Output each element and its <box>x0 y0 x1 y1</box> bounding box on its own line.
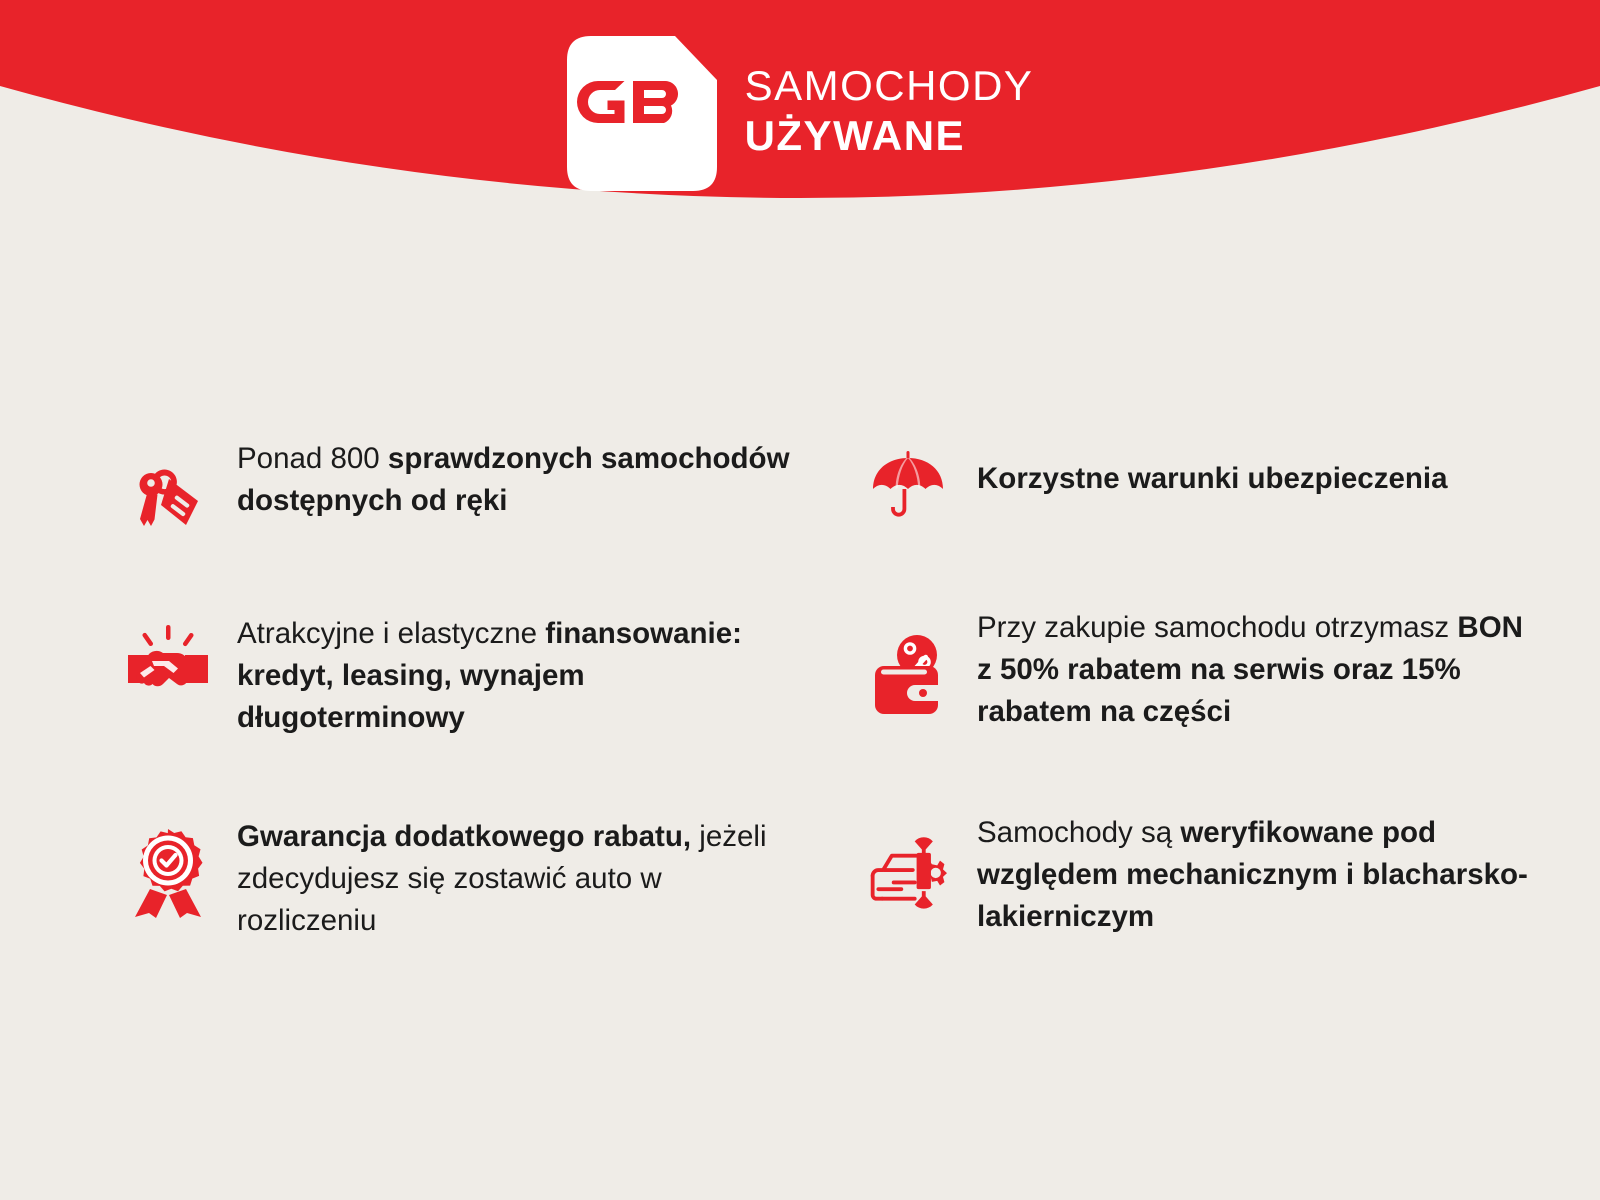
car-key-icon <box>125 454 211 540</box>
brand-lockup: SAMOCHODY UŻYWANE <box>0 28 1600 198</box>
feature-text-lead: Przy zakupie samochodu otrzymasz <box>977 611 1457 644</box>
feature-text: Ponad 800 sprawdzonych samochodów dostęp… <box>237 430 797 522</box>
feature-text: Gwarancja dodatkowego rabatu, jeżeli zde… <box>237 810 797 942</box>
feature-item-trade-in-discount: Gwarancja dodatkowego rabatu, jeżeli zde… <box>125 810 845 985</box>
feature-item-service-voucher: Przy zakupie samochodu otrzymasz BON z 5… <box>865 605 1585 810</box>
feature-text-emphasis: Gwarancja dodatkowego rabatu, <box>237 820 691 853</box>
feature-text: Atrakcyjne i elastyczne finansowanie: kr… <box>237 605 797 739</box>
feature-text: Samochody są weryfikowane pod względem m… <box>977 810 1537 938</box>
gb-logo-mark <box>567 36 717 191</box>
wordmark-line-2: UŻYWANE <box>745 115 1034 157</box>
umbrella-icon <box>865 442 951 528</box>
wordmark-line-1: SAMOCHODY <box>745 65 1034 107</box>
brand-wordmark: SAMOCHODY UŻYWANE <box>745 65 1034 161</box>
feature-item-stock-availability: Ponad 800 sprawdzonych samochodów dostęp… <box>125 430 845 605</box>
feature-text: Przy zakupie samochodu otrzymasz BON z 5… <box>977 605 1537 733</box>
feature-text-emphasis: Korzystne warunki ubezpieczenia <box>977 462 1448 495</box>
car-wrench-gear-icon <box>865 828 951 914</box>
feature-item-insurance: Korzystne warunki ubezpieczenia <box>865 430 1585 605</box>
feature-text: Korzystne warunki ubezpieczenia <box>977 430 1448 500</box>
feature-text-lead: Atrakcyjne i elastyczne <box>237 617 545 650</box>
wallet-percent-icon <box>865 631 951 717</box>
feature-list: Ponad 800 sprawdzonych samochodów dostęp… <box>0 430 1600 985</box>
handshake-icon <box>125 623 211 709</box>
award-badge-icon <box>125 830 211 916</box>
feature-item-vehicle-inspection: Samochody są weryfikowane pod względem m… <box>865 810 1585 985</box>
feature-text-lead: Ponad 800 <box>237 442 388 475</box>
feature-text-lead: Samochody są <box>977 816 1180 849</box>
feature-item-financing: Atrakcyjne i elastyczne finansowanie: kr… <box>125 605 845 810</box>
